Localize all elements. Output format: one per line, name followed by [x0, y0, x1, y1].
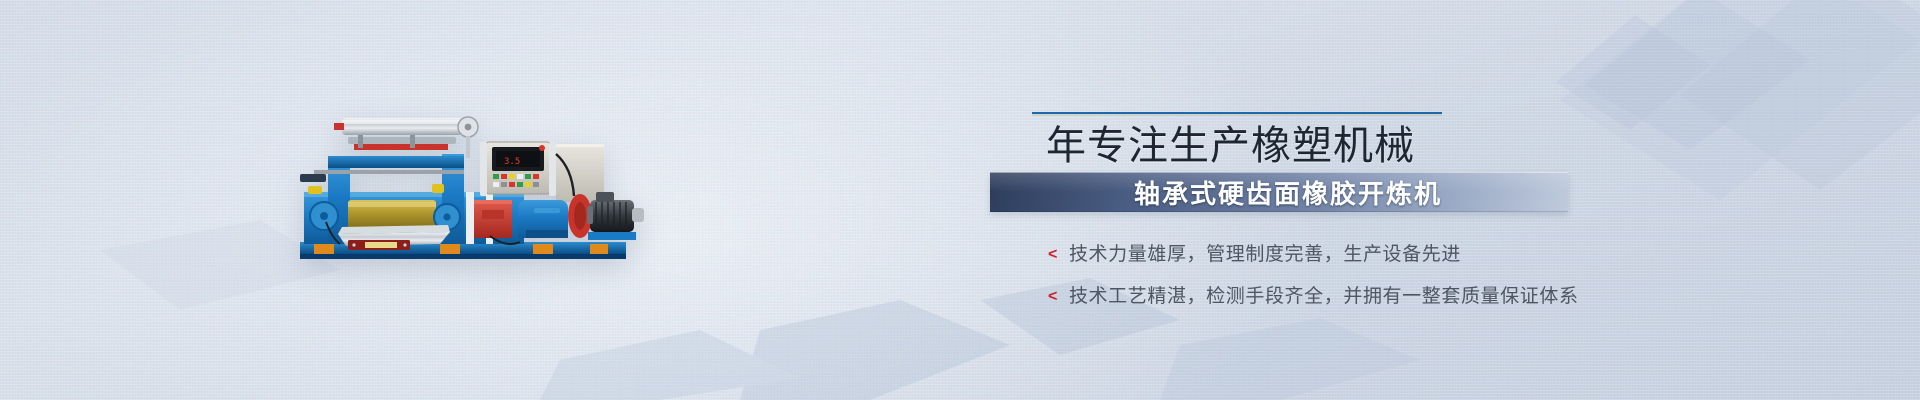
- page-title: 年专注生产橡塑机械: [1046, 123, 1672, 169]
- subtitle-bar: 轴承式硬齿面橡胶开炼机: [990, 172, 1568, 212]
- svg-text:3.5: 3.5: [504, 157, 520, 167]
- list-item-label: 技术工艺精湛，检测手段齐全，并拥有一整套质量保证体系: [1069, 281, 1579, 308]
- product-photo-rubber-mixing-mill: 3.5: [290, 96, 646, 264]
- subtitle-text: 轴承式硬齿面橡胶开炼机: [1134, 174, 1442, 211]
- list-item-label: 技术力量雄厚，管理制度完善，生产设备先进: [1069, 239, 1461, 266]
- chevron-left-icon: <: [1048, 289, 1058, 305]
- list-item: < 技术力量雄厚，管理制度完善，生产设备先进: [1048, 239, 1672, 266]
- chevron-left-icon: <: [1048, 247, 1058, 263]
- list-item: < 技术工艺精湛，检测手段齐全，并拥有一整套质量保证体系: [1048, 281, 1672, 308]
- promo-banner: 3.5: [0, 0, 1920, 400]
- feature-list: < 技术力量雄厚，管理制度完善，生产设备先进 < 技术工艺精湛，检测手段齐全，并…: [1048, 239, 1672, 308]
- banner-copy: 年专注生产橡塑机械 轴承式硬齿面橡胶开炼机 < 技术力量雄厚，管理制度完善，生产…: [1032, 112, 1672, 323]
- accent-divider-rule: [1032, 112, 1442, 114]
